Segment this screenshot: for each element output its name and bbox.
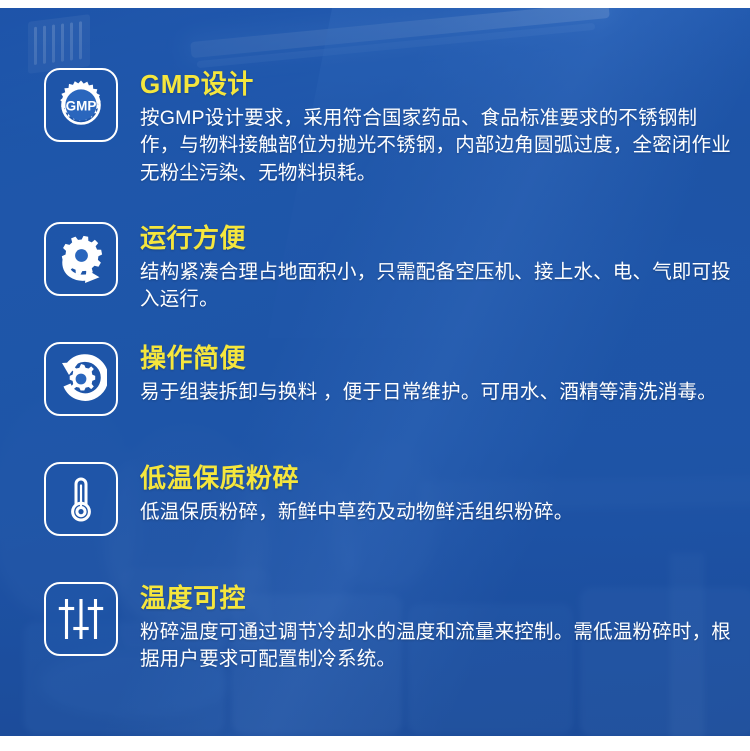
feature-text-block: 低温保质粉碎 低温保质粉碎，新鲜中草药及动物鲜活组织粉碎。: [140, 462, 734, 526]
feature-description: 易于组装拆卸与换料 ，便于日常维护。可用水、酒精等清洗消毒。: [140, 379, 734, 407]
gmp-badge-icon: GMP: [44, 68, 118, 142]
bottom-white-strip: [0, 736, 750, 751]
gear-arrow-icon: [44, 222, 118, 296]
gear-refresh-icon: [44, 342, 118, 416]
feature-title: 操作简便: [140, 344, 734, 373]
feature-item-simple-maintenance: 操作简便 易于组装拆卸与换料 ，便于日常维护。可用水、酒精等清洗消毒。: [44, 342, 734, 416]
feature-item-temperature-control: 温度可控 粉碎温度可通过调节冷却水的温度和流量来控制。需低温粉碎时，根据用户要求…: [44, 582, 734, 674]
feature-text-block: GMP设计 按GMP设计要求，采用符合国家药品、食品标准要求的不锈钢制作，与物料…: [140, 68, 734, 188]
top-white-strip: [0, 0, 750, 8]
feature-item-low-temp-grinding: 低温保质粉碎 低温保质粉碎，新鲜中草药及动物鲜活组织粉碎。: [44, 462, 734, 536]
sliders-icon: [44, 582, 118, 656]
feature-text-block: 温度可控 粉碎温度可通过调节冷却水的温度和流量来控制。需低温粉碎时，根据用户要求…: [140, 582, 734, 674]
feature-title: GMP设计: [140, 70, 734, 99]
feature-description: 低温保质粉碎，新鲜中草药及动物鲜活组织粉碎。: [140, 499, 734, 527]
feature-title: 温度可控: [140, 584, 734, 613]
feature-item-easy-operation: 运行方便 结构紧凑合理占地面积小，只需配备空压机、接上水、电、气即可投入运行。: [44, 222, 734, 314]
feature-description: 按GMP设计要求，采用符合国家药品、食品标准要求的不锈钢制作，与物料接触部位为抛…: [140, 105, 734, 188]
feature-item-gmp-design: GMP GMP设计 按GMP设计要求，采用符合国家药品、食品标准要求的不锈钢制作…: [44, 68, 734, 188]
feature-title: 低温保质粉碎: [140, 464, 734, 493]
thermometer-icon: [44, 462, 118, 536]
feature-text-block: 运行方便 结构紧凑合理占地面积小，只需配备空压机、接上水、电、气即可投入运行。: [140, 222, 734, 314]
feature-description: 粉碎温度可通过调节冷却水的温度和流量来控制。需低温粉碎时，根据用户要求可配置制冷…: [140, 619, 734, 674]
gmp-icon-label: GMP: [66, 98, 97, 113]
feature-list-page: GMP GMP设计 按GMP设计要求，采用符合国家药品、食品标准要求的不锈钢制作…: [0, 0, 750, 751]
feature-title: 运行方便: [140, 224, 734, 253]
feature-description: 结构紧凑合理占地面积小，只需配备空压机、接上水、电、气即可投入运行。: [140, 259, 734, 314]
feature-text-block: 操作简便 易于组装拆卸与换料 ，便于日常维护。可用水、酒精等清洗消毒。: [140, 342, 734, 406]
